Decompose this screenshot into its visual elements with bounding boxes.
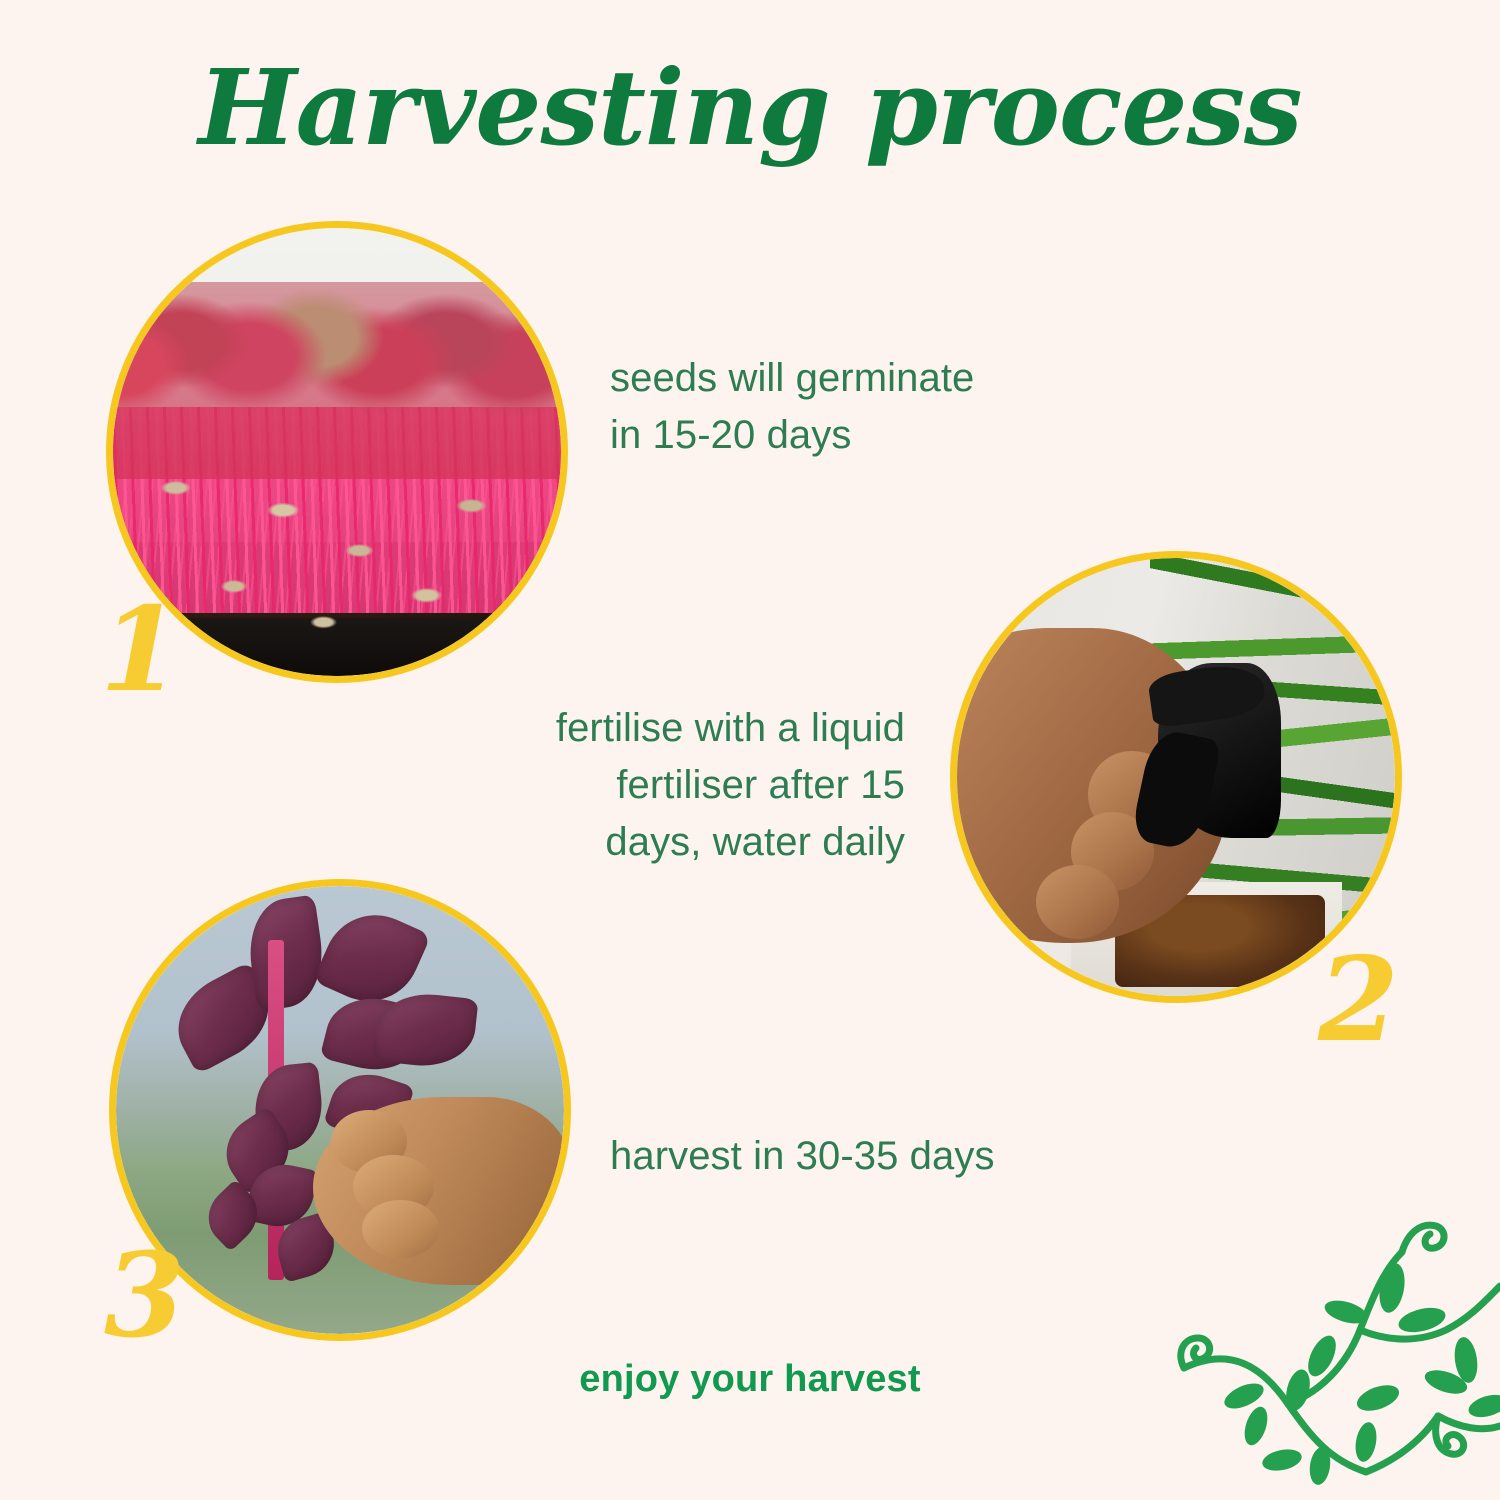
step-2-number: 2: [1318, 942, 1399, 1058]
step-3-caption-line-1: harvest in 30-35 days: [610, 1128, 1080, 1185]
step-1-caption-line-1: seeds will germinate: [610, 350, 1040, 407]
step-1-number: 1: [100, 592, 181, 708]
step-1-caption: seeds will germinate in 15-20 days: [610, 350, 1040, 464]
hand-knuckle-3: [362, 1200, 438, 1258]
footer-note: enjoy your harvest: [0, 1358, 1500, 1401]
step-2-caption-line-2: fertiliser after 15: [490, 757, 905, 814]
finger-3: [1036, 865, 1119, 939]
vine-decoration-icon: [1170, 1160, 1500, 1500]
step-2-caption-line-1: fertilise with a liquid: [490, 700, 905, 757]
page-title: Harvesting process: [0, 48, 1500, 168]
step-3-number: 3: [104, 1238, 185, 1354]
infographic-canvas: Harvesting process 1 seeds will germinat…: [0, 0, 1500, 1500]
step-1-caption-line-2: in 15-20 days: [610, 407, 1040, 464]
step-3-caption: harvest in 30-35 days: [610, 1128, 1080, 1185]
step-2-caption: fertilise with a liquid fertiliser after…: [490, 700, 905, 870]
step-2-caption-line-3: days, water daily: [490, 814, 905, 871]
step-2-photo-inner: Ugaoo Plant Tonic READY TO USE SEAWEED F…: [957, 558, 1395, 996]
